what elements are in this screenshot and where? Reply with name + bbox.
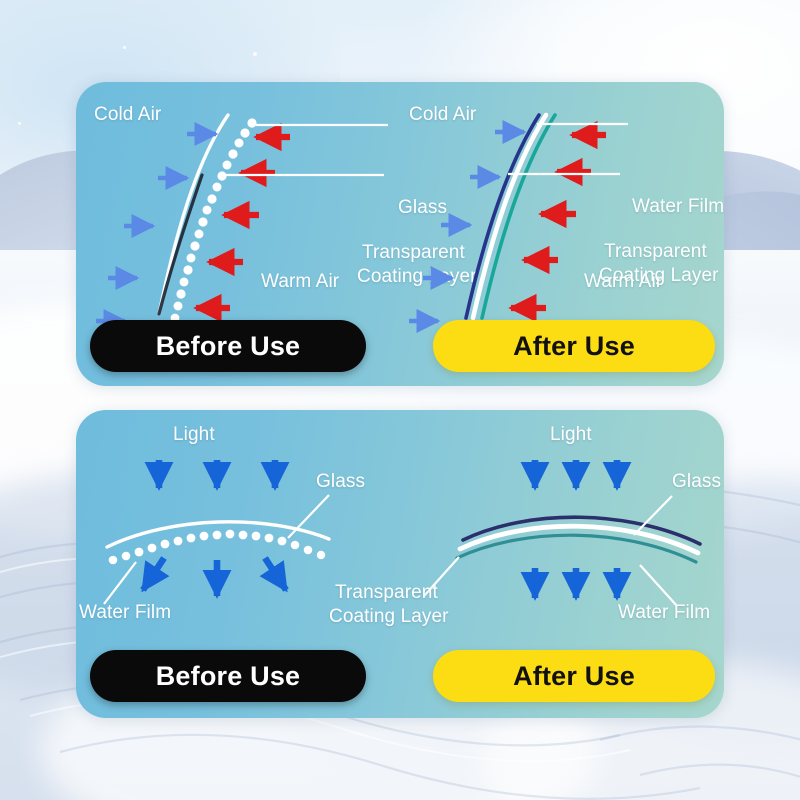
- incoming-light-arrows: [159, 460, 275, 488]
- cold-air-arrows: [96, 134, 216, 321]
- before-use-button-bottom[interactable]: Before Use: [90, 650, 366, 702]
- label-water-film-bottom-right: Water Film: [618, 602, 710, 624]
- incoming-light-arrows: [535, 460, 617, 488]
- sparkle: [18, 122, 21, 125]
- label-coating-top-right-line1: Transparent: [604, 241, 707, 263]
- panel-bottom-left-before: Light Glass Water Film Before Use: [76, 410, 400, 718]
- label-coating-bottom-right-line2: Coating Layer: [329, 606, 449, 628]
- after-use-button-bottom[interactable]: After Use: [433, 650, 715, 702]
- label-cold-air: Cold Air: [409, 104, 476, 126]
- after-use-button-top[interactable]: After Use: [433, 320, 715, 372]
- panel-bottom-right-after: Light Glass Water Film After Use: [400, 410, 724, 718]
- label-warm-air: Warm Air: [261, 271, 339, 293]
- label-warm-air: Warm Air: [584, 271, 662, 293]
- panel-top-right-after: Cold Air Water Film Transparent Coating …: [400, 82, 724, 386]
- label-light-bottom-left: Light: [173, 424, 215, 446]
- sparkle: [253, 52, 257, 56]
- label-glass-bottom-right: Glass: [672, 471, 721, 493]
- label-cold-air: Cold Air: [94, 104, 161, 126]
- before-use-button-top[interactable]: Before Use: [90, 320, 366, 372]
- glass-pane-curve: [159, 115, 228, 314]
- panel-condensation: Cold Air Warm Air Glass Transparent Coat…: [76, 82, 724, 386]
- panel-light-transmission: Light Glass Water Film Before Use: [76, 410, 724, 718]
- label-water-film-bottom-left: Water Film: [79, 602, 171, 624]
- glass-water-coating-curves: [457, 517, 700, 562]
- outgoing-light-arrows-scattered: [143, 558, 286, 596]
- label-water-film-top-right: Water Film: [632, 196, 724, 218]
- infographic-canvas: Cold Air Warm Air Glass Transparent Coat…: [0, 0, 800, 800]
- sparkle: [123, 46, 126, 49]
- label-glass-bottom-left: Glass: [316, 471, 365, 493]
- leader-lines: [424, 496, 677, 606]
- outgoing-light-arrows: [535, 568, 617, 598]
- label-coating-bottom-right-line1: Transparent: [335, 582, 438, 604]
- label-light-bottom-right: Light: [550, 424, 592, 446]
